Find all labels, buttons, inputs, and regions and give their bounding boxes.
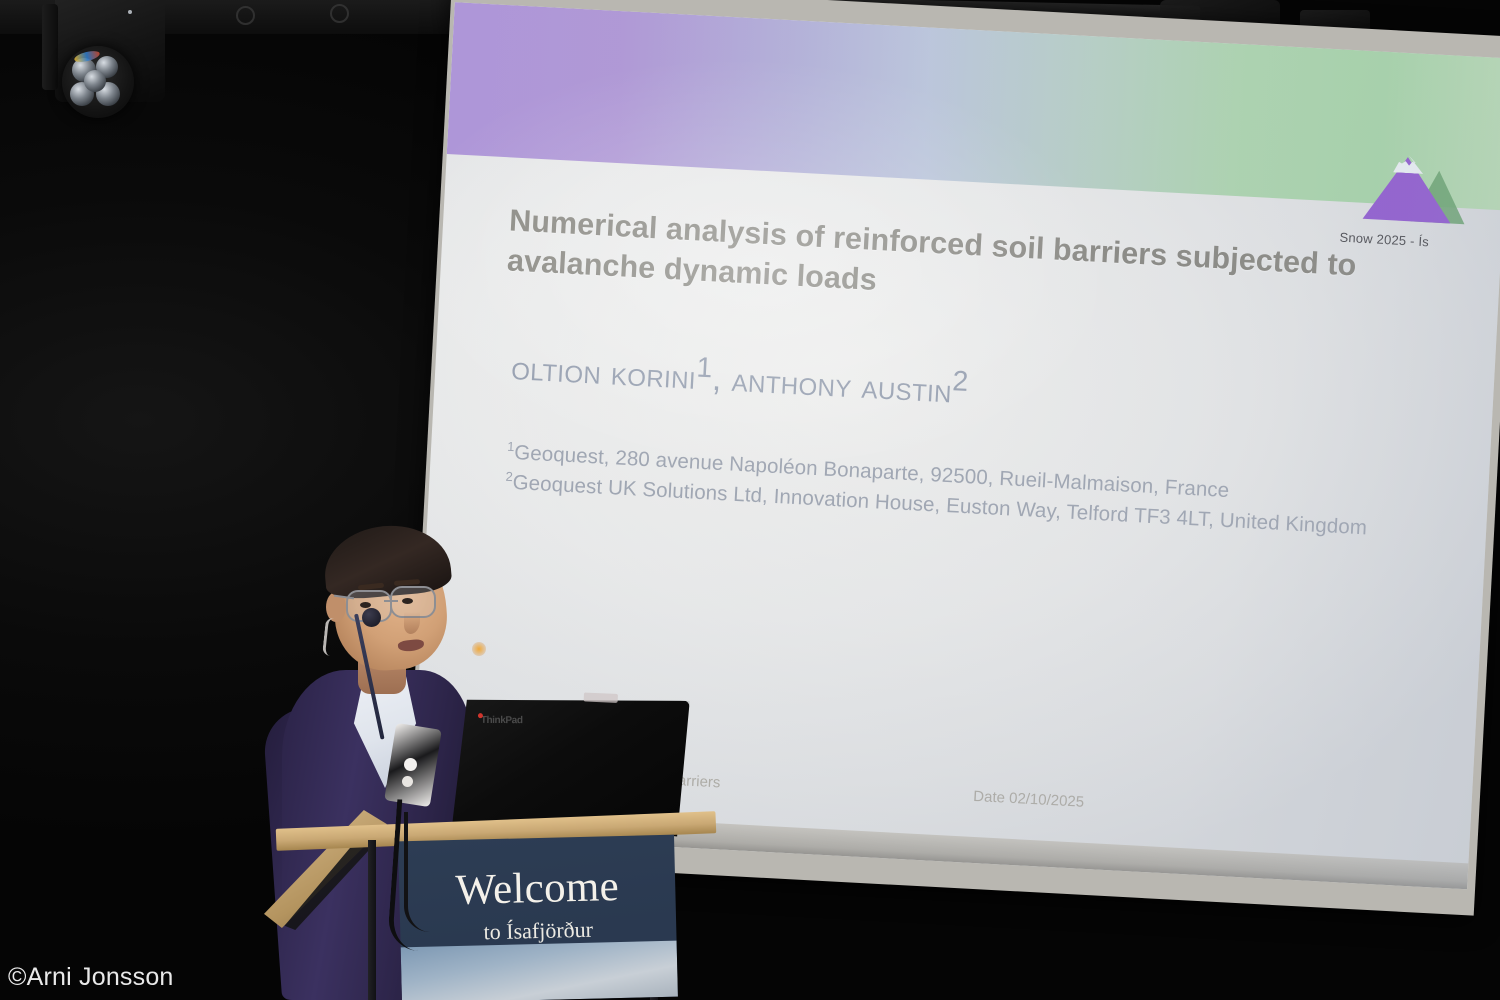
background-warm-light bbox=[472, 642, 486, 656]
headset-band bbox=[322, 617, 341, 656]
microphone-cable bbox=[404, 812, 430, 932]
slide-authors: Oltion Korini1, Anthony Austin2 bbox=[510, 342, 1411, 436]
fixture-lens bbox=[84, 70, 106, 92]
speaker-eye bbox=[402, 598, 413, 604]
eyeglasses-bridge bbox=[384, 600, 398, 602]
laptop-brand-label: ThinkPad bbox=[481, 715, 523, 726]
curtain-grommet bbox=[330, 4, 349, 23]
microphone-capsule-icon bbox=[362, 608, 381, 627]
fixture-yoke bbox=[42, 4, 58, 90]
slide-footer-date: Date 02/10/2025 bbox=[973, 788, 1085, 811]
author-one-affil-marker: 1 bbox=[696, 352, 714, 385]
fixture-indicator-led bbox=[128, 10, 132, 14]
lectern-sign: Welcome to Ísafjörður bbox=[398, 835, 678, 1000]
slide-affiliations: 1Geoquest, 280 avenue Napoléon Bonaparte… bbox=[505, 438, 1427, 546]
photo-credit-watermark: ©Arni Jonsson bbox=[8, 963, 174, 992]
sign-title: Welcome bbox=[399, 861, 676, 917]
fixture-head bbox=[62, 46, 134, 118]
laptop-hinge-latch bbox=[584, 692, 618, 702]
author-two-affil-marker: 2 bbox=[952, 365, 970, 398]
lectern: Welcome to Ísafjörður bbox=[252, 800, 722, 1000]
author-two: Anthony Austin bbox=[731, 361, 953, 411]
curtain-grommet bbox=[236, 6, 255, 25]
author-separator: , bbox=[711, 360, 733, 399]
sign-photo-band bbox=[401, 941, 678, 1000]
badge-dot bbox=[404, 758, 417, 771]
author-one: Oltion Korini bbox=[510, 349, 697, 397]
slide-title: Numerical analysis of reinforced soil ba… bbox=[506, 201, 1439, 330]
badge-dot bbox=[402, 776, 413, 787]
photo-scene: Snow 2025 - Ís Numerical analysis of rei… bbox=[0, 0, 1500, 1000]
lectern-leg bbox=[368, 840, 376, 1000]
